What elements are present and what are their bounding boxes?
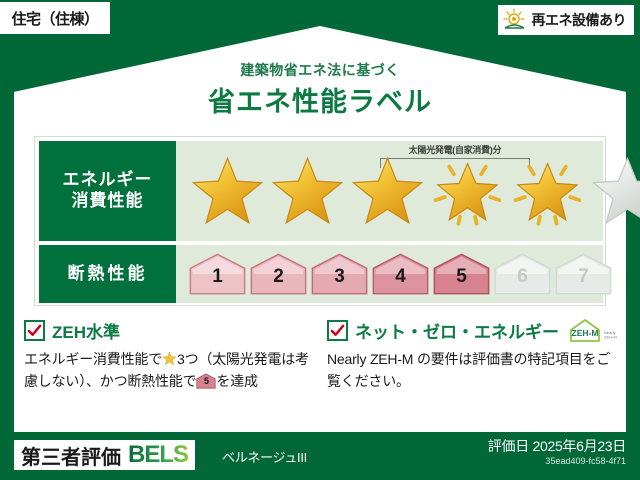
energy-performance-row: エネルギー 消費性能 太陽光発電(自家消費)分: [39, 141, 603, 241]
sun-solar-icon: [502, 8, 528, 32]
note-nze-body: Nearly ZEH-M の要件は評価書の特記項目をご覧ください。: [327, 349, 616, 392]
star-rating: [176, 141, 603, 241]
grade-number-4: 4: [371, 252, 430, 296]
svg-text:ZEH-M: ZEH-M: [572, 328, 599, 338]
zeh-m-logo-icon: ZEH-M Nearly ZEH-M: [568, 317, 622, 343]
star-icon-1: [188, 153, 267, 229]
insulation-grade-list: 1 2 3: [176, 245, 603, 303]
note-nze-title: ネット・ゼロ・エネルギー: [355, 318, 559, 343]
label-subtitle: 建築物省エネ法に基づく: [0, 60, 640, 80]
evaluation-id: 35ead409-fc58-4f71: [545, 456, 626, 466]
evaluation-date: 評価日 2025年6月23日: [488, 436, 626, 456]
bels-japanese-text: 第三者評価: [21, 441, 121, 470]
grade-number-2: 2: [249, 252, 308, 296]
note-zeh-header: ZEH水準: [24, 318, 313, 342]
notes-section: ZEH水準 エネルギー消費性能で3つ（太陽光発電は考慮しない）、かつ断熱性能で5…: [24, 318, 616, 418]
inline-grade-number: 5: [196, 373, 216, 389]
star-icon-6-empty: [588, 153, 640, 229]
checkbox-checked-icon-2: [327, 320, 348, 341]
insulation-label-text: 断熱性能: [68, 264, 148, 285]
note-nze-header: ネット・ゼロ・エネルギー ZEH-M Nearly ZEH-M: [327, 318, 616, 342]
grade-block-5: 5: [432, 252, 491, 296]
insulation-performance-row: 断熱性能 1: [39, 245, 603, 303]
energy-performance-label: 住宅（住棟） 再エネ設備あり 建築物省エネ法に基づく 省エネ性能ラベル: [0, 0, 640, 480]
insulation-performance-label: 断熱性能: [39, 245, 176, 303]
building-type-tag: 住宅（住棟）: [0, 2, 110, 34]
note-zeh-star-count: 3つ: [177, 351, 198, 367]
checkbox-checked-icon: [24, 320, 45, 341]
page-title: 省エネ性能ラベル: [0, 80, 640, 119]
grade-block-7: 7: [554, 252, 613, 296]
insulation-grade-track: 1 2 3: [176, 245, 603, 303]
note-net-zero-energy: ネット・ゼロ・エネルギー ZEH-M Nearly ZEH-M Nearly Z…: [327, 318, 616, 418]
grade-block-1: 1: [188, 252, 247, 296]
grade-number-5: 5: [432, 252, 491, 296]
performance-panel: エネルギー 消費性能 太陽光発電(自家消費)分: [34, 136, 606, 306]
note-zeh-standard: ZEH水準 エネルギー消費性能で3つ（太陽光発電は考慮しない）、かつ断熱性能で5…: [24, 318, 313, 418]
star-icon-2: [268, 153, 347, 229]
renewable-badge-text: 再エネ設備あり: [532, 10, 627, 30]
note-zeh-title: ZEH水準: [52, 318, 120, 343]
energy-performance-label: エネルギー 消費性能: [39, 141, 176, 241]
note-zeh-text-1: エネルギー消費性能で: [24, 351, 162, 367]
renewable-equipment-badge: 再エネ設備あり: [498, 5, 635, 35]
grade-number-6: 6: [493, 252, 552, 296]
bels-logo-text: BELS: [128, 441, 188, 469]
building-type-text: 住宅（住棟）: [11, 8, 98, 29]
grade-block-6: 6: [493, 252, 552, 296]
label-footer: 第三者評価 BELS ベルネージュIII 評価日 2025年6月23日 35ea…: [0, 432, 640, 480]
inline-grade-badge: 5: [196, 373, 216, 389]
grade-block-2: 2: [249, 252, 308, 296]
energy-star-track: 太陽光発電(自家消費)分: [176, 141, 603, 241]
property-name: ベルネージュIII: [222, 447, 307, 466]
star-icon-5-solar: [508, 153, 587, 229]
inline-star-icon: [162, 351, 177, 366]
grade-number-1: 1: [188, 252, 247, 296]
star-icon-3: [348, 153, 427, 229]
star-icon-4-solar: [428, 153, 507, 229]
grade-block-4: 4: [371, 252, 430, 296]
bels-certification-mark: 第三者評価 BELS: [14, 440, 195, 470]
grade-number-7: 7: [554, 252, 613, 296]
energy-label-line2: 消費性能: [72, 191, 144, 212]
energy-label-line1: エネルギー: [63, 170, 153, 191]
svg-text:ZEH-M: ZEH-M: [604, 335, 617, 340]
grade-number-3: 3: [310, 252, 369, 296]
grade-block-3: 3: [310, 252, 369, 296]
note-zeh-body: エネルギー消費性能で3つ（太陽光発電は考慮しない）、かつ断熱性能で5を達成: [24, 349, 313, 392]
note-zeh-text-3: を達成: [216, 373, 257, 389]
